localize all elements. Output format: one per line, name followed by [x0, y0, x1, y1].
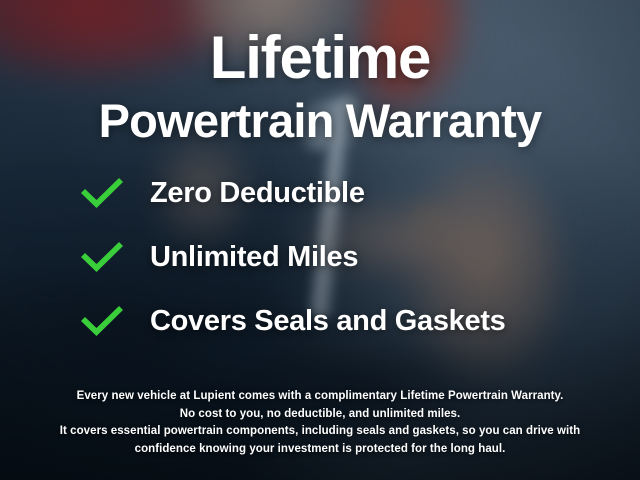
check-icon: [78, 240, 126, 274]
footer-description: Every new vehicle at Lupient comes with …: [30, 388, 610, 458]
footer-line-3: It covers essential powertrain component…: [30, 423, 610, 441]
banner-content: Lifetime Powertrain Warranty Zero Deduct…: [0, 0, 640, 480]
feature-label-zero-deductible: Zero Deductible: [150, 177, 365, 210]
lifetime-powertrain-warranty-banner: Lifetime Powertrain Warranty Zero Deduct…: [0, 0, 640, 480]
page-title: Lifetime Powertrain Warranty: [0, 28, 640, 145]
list-item: Covers Seals and Gaskets: [78, 304, 506, 338]
feature-label-unlimited-miles: Unlimited Miles: [150, 241, 358, 274]
list-item: Zero Deductible: [78, 176, 506, 210]
headline-line-2: Powertrain Warranty: [0, 96, 640, 145]
feature-label-covers-seals-and-gaskets: Covers Seals and Gaskets: [150, 305, 506, 338]
footer-line-1: Every new vehicle at Lupient comes with …: [30, 388, 610, 406]
check-icon: [78, 176, 126, 210]
feature-list: Zero Deductible Unlimited Miles Covers S…: [78, 176, 506, 338]
check-icon: [78, 304, 126, 338]
headline-line-1: Lifetime: [0, 28, 640, 88]
footer-line-2: No cost to you, no deductible, and unlim…: [30, 406, 610, 424]
list-item: Unlimited Miles: [78, 240, 506, 274]
footer-line-4: confidence knowing your investment is pr…: [30, 441, 610, 459]
